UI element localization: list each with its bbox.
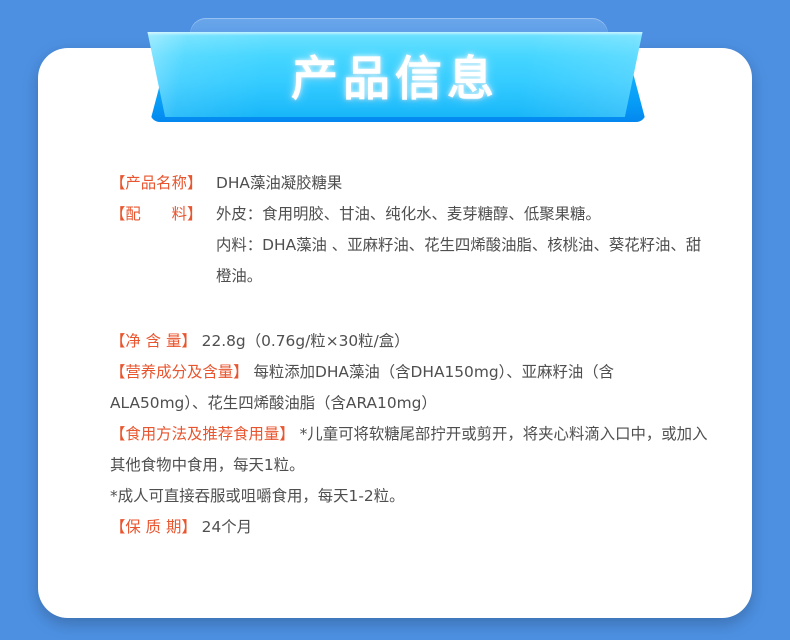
field-ingredients: 【配 料】 外皮：食用明胶、甘油、纯化水、麦芽糖醇、低聚果糖。 内料：DHA藻油… [110, 199, 710, 292]
shelf-life-value: 24个月 [202, 518, 252, 536]
shelf-life-label: 【保 质 期】 [110, 518, 197, 536]
banner: 产品信息 [0, 0, 790, 140]
product-name-label: 【产品名称】 [110, 168, 216, 199]
product-info-content: 【产品名称】 DHA藻油凝胶糖果 【配 料】 外皮：食用明胶、甘油、纯化水、麦芽… [110, 168, 710, 543]
net-content-label: 【净 含 量】 [110, 332, 197, 350]
field-product-name: 【产品名称】 DHA藻油凝胶糖果 [110, 168, 710, 199]
field-shelf-life: 【保 质 期】 24个月 [110, 512, 710, 543]
page-title: 产品信息 [135, 32, 655, 117]
field-usage: 【食用方法及推荐食用量】 *儿童可将软糖尾部拧开或剪开，将夹心料滴入口中，或加入… [110, 419, 710, 481]
field-net-content: 【净 含 量】 22.8g（0.76g/粒×30粒/盒） [110, 326, 710, 357]
ingredients-body: 外皮：食用明胶、甘油、纯化水、麦芽糖醇、低聚果糖。 内料：DHA藻油 、亚麻籽油… [216, 199, 710, 292]
ingredients-shell-line: 外皮：食用明胶、甘油、纯化水、麦芽糖醇、低聚果糖。 [216, 205, 601, 223]
ingredients-filling-line: 内料：DHA藻油 、亚麻籽油、花生四烯酸油脂、核桃油、葵花籽油、甜橙油。 [216, 236, 701, 285]
product-info-page: 产品信息 【产品名称】 DHA藻油凝胶糖果 【配 料】 外皮：食用明胶、甘油、纯… [0, 0, 790, 640]
ingredients-label: 【配 料】 [110, 199, 216, 230]
net-content-value: 22.8g（0.76g/粒×30粒/盒） [202, 332, 410, 350]
section-spacer [110, 292, 710, 326]
product-name-value: DHA藻油凝胶糖果 [216, 168, 710, 199]
usage-note: *成人可直接吞服或咀嚼食用，每天1-2粒。 [110, 487, 404, 505]
field-nutrition: 【营养成分及含量】 每粒添加DHA藻油（含DHA150mg）、亚麻籽油（含ALA… [110, 357, 710, 419]
field-usage-note: *成人可直接吞服或咀嚼食用，每天1-2粒。 [110, 481, 710, 512]
usage-label: 【食用方法及推荐食用量】 [110, 425, 295, 443]
nutrition-label: 【营养成分及含量】 [110, 363, 249, 381]
